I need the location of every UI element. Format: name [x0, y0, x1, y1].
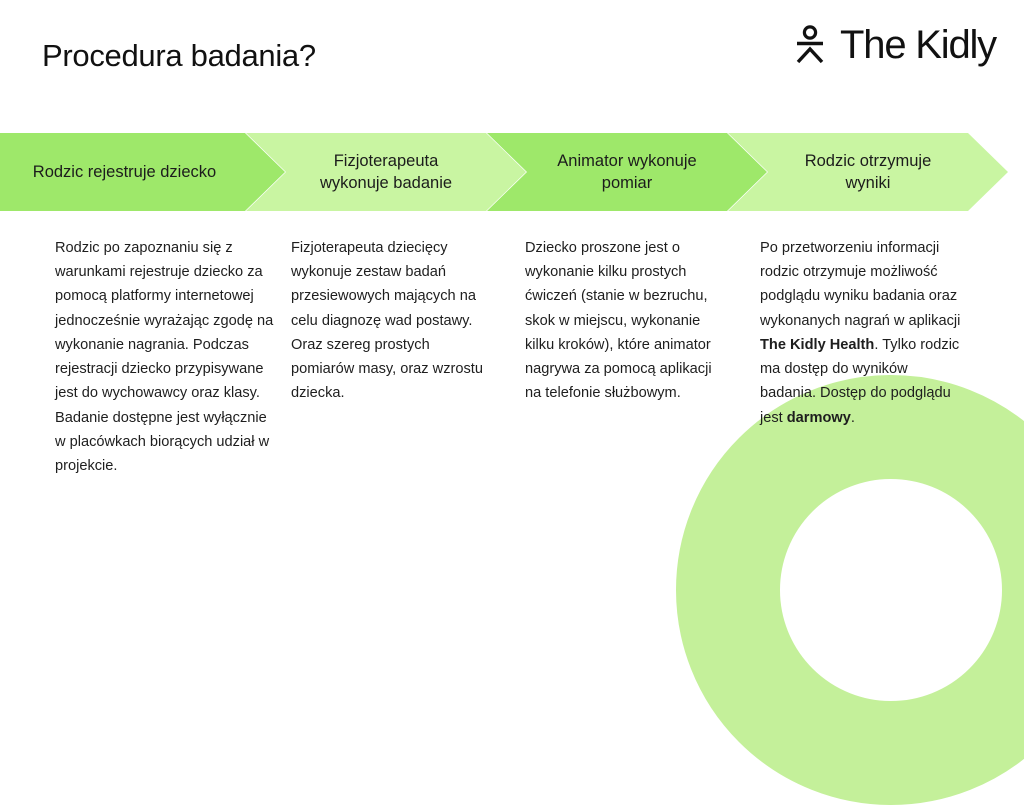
process-step-1[interactable]: Rodzic rejestruje dziecko: [0, 133, 285, 211]
process-step-2-label: Fizjoterapeuta wykonuje badanie: [320, 150, 452, 195]
process-step-4-label: Rodzic otrzymuje wyniki: [805, 150, 932, 195]
slide-header: Procedura badania? The Kidly: [0, 0, 1024, 120]
description-columns: Rodzic po zapoznaniu się z warunkami rej…: [0, 236, 1024, 556]
brand-name: The Kidly: [840, 25, 996, 65]
process-step-1-label: Rodzic rejestruje dziecko: [33, 161, 216, 183]
process-step-3-label: Animator wykonuje pomiar: [557, 150, 696, 195]
page-title: Procedura badania?: [42, 38, 316, 74]
description-column-3: Dziecko proszone jest o wykonanie kilku …: [525, 236, 730, 406]
process-step-2[interactable]: Fizjoterapeuta wykonuje badanie: [246, 133, 526, 211]
process-step-3[interactable]: Animator wykonuje pomiar: [487, 133, 767, 211]
description-column-1: Rodzic po zapoznaniu się z warunkami rej…: [55, 236, 281, 478]
person-figure-icon: [794, 24, 826, 66]
description-column-4: Po przetworzeniu informacji rodzic otrzy…: [760, 236, 965, 430]
process-step-4[interactable]: Rodzic otrzymuje wyniki: [728, 133, 1008, 211]
process-step-band: Rodzic rejestruje dziecko Fizjoterapeuta…: [0, 133, 1024, 211]
description-column-2: Fizjoterapeuta dziecięcy wykonuje zestaw…: [291, 236, 496, 406]
brand-logo: The Kidly: [794, 24, 996, 66]
